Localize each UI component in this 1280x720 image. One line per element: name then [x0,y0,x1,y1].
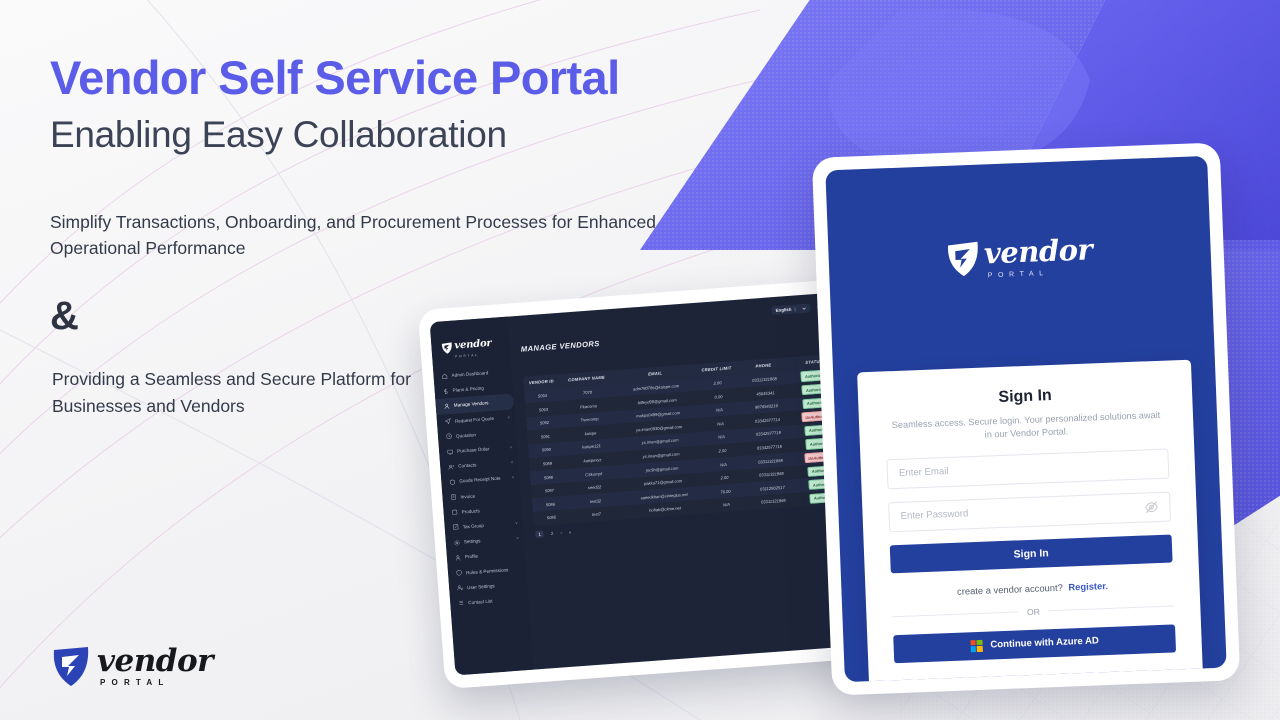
cell-phone: 03342577718 [741,429,796,438]
email-placeholder: Enter Email [899,466,949,479]
cell-credit-limit: 2.00 [697,379,737,387]
shield-logo-icon [52,645,90,687]
brand-wordmark: vendor PORTAL [97,646,213,687]
sidebar-item-label: Admin Dashboard [451,370,488,378]
email-field[interactable]: Enter Email [886,448,1169,489]
language-label: English [775,306,791,312]
cell-vendor-id: 5085 [533,514,569,522]
sidebar-item-label: User Settings [467,583,495,590]
login-mockup: vendor PORTAL Sign In Seamless access. S… [812,142,1240,695]
column-header: VENDOR ID [523,378,559,386]
shield-logo-icon [946,240,980,278]
user-settings-icon [457,585,463,591]
page-title: Vendor Self Service Portal [50,52,750,105]
microsoft-logo-icon [970,640,982,652]
sidebar-item-label: Plans & Pricing [453,386,484,393]
cell-credit-limit: 76.00 [705,487,745,495]
sidebar-item-label: Invoice [460,493,475,499]
cell-credit-limit: N/A [703,460,743,468]
monitor-icon [447,448,453,454]
cell-vendor-id: 5086 [532,500,568,508]
pagination-page[interactable]: 2 [551,530,554,535]
login-logo: vendor PORTAL [828,228,1211,286]
password-field[interactable]: Enter Password [888,491,1171,532]
cell-credit-limit: N/A [706,501,746,509]
cell-vendor-id: 5091 [527,433,563,441]
pagination-page[interactable]: 1 [535,530,544,538]
register-link[interactable]: Register. [1068,580,1108,593]
cell-phone: 03311321868 [743,456,798,465]
cell-credit-limit: 0.00 [698,392,738,400]
column-header: CREDIT LIMIT [696,365,736,373]
sidebar-item-label: Profile [465,554,478,560]
dashboard-logo: vendor PORTAL [430,325,511,370]
chevron-down-icon: ˅ [516,536,519,541]
gear-icon [454,539,460,545]
cell-credit-limit: N/A [699,406,739,414]
cell-vendor-id: 5093 [525,405,561,413]
cell-company-name: 7070 [560,388,615,397]
azure-ad-button[interactable]: Continue with Azure AD [893,624,1176,663]
or-divider: OR [892,601,1174,622]
cell-phone: 03342577714 [740,416,795,425]
cell-phone: 45645341 [738,389,793,398]
profile-icon [455,555,461,561]
cell-credit-limit: 2.00 [702,447,742,455]
cell-phone: 03311321868 [746,497,801,506]
sidebar-item-label: Settings [464,538,481,544]
hero-paragraph-2: Providing a Seamless and Secure Platform… [52,366,482,420]
sidebar-item-label: Quotation [456,432,476,438]
cell-credit-limit: 2.00 [704,474,744,482]
pagination-next-icon[interactable]: › [560,530,562,535]
dashboard-page-title: MANAGE VENDORS [521,339,600,354]
page-subtitle: Enabling Easy Collaboration [50,113,750,157]
brand-logo: vendor PORTAL [52,645,213,687]
sidebar-item-label: Purchase Order [457,446,490,453]
signin-subtitle: Seamless access. Secure login. Your pers… [885,409,1168,446]
tax-icon [453,524,459,530]
signin-card: Sign In Seamless access. Secure login. Y… [857,360,1203,683]
home-icon [441,373,447,379]
hero-paragraph-1: Simplify Transactions, Onboarding, and P… [50,209,740,262]
or-label: OR [1027,606,1040,616]
box-icon [449,479,455,485]
roles-icon [456,570,462,576]
brand-subword: PORTAL [100,679,213,687]
invoice-icon [450,494,456,500]
column-header: PHONE [736,361,791,370]
cell-company-name: seed22 [567,483,622,492]
column-header: COMPANY NAME [559,374,614,383]
divider: | [794,306,796,311]
clock-icon [446,433,452,439]
cell-company-name: test7 [569,510,624,519]
cell-vendor-id: 5088 [530,473,566,481]
user-icon [444,403,450,409]
hero-banner: Vendor Self Service Portal Enabling Easy… [0,0,1280,720]
sidebar-item-label: Roles & Permissions [466,567,509,575]
cell-credit-limit: N/A [701,433,741,441]
cell-credit-limit: N/A [700,420,740,428]
cell-company-name: CSkompf [566,469,621,478]
login-screen: vendor PORTAL Sign In Seamless access. S… [825,156,1226,682]
sidebar-item-label: Request For Quote [455,416,494,424]
sidebar-item-label: Goods Receipt Note [459,476,501,484]
cell-phone: 9876543219 [739,402,794,411]
azure-ad-label: Continue with Azure AD [990,636,1099,651]
cell-company-name: kaispe121 [564,442,619,451]
cell-company-name: Pkacomo [561,402,616,411]
cell-company-name: test32 [568,496,623,505]
cell-vendor-id: 5090 [528,446,564,454]
sidebar-item-label: Tax Group [463,523,485,530]
chevron-down-icon: ˅ [509,445,512,450]
cell-vendor-id: 5087 [531,487,567,495]
dashboard-logo-sub: PORTAL [455,352,492,359]
shield-logo-icon [441,341,453,354]
chevron-down-icon: ˅ [511,460,514,465]
signin-title: Sign In [884,383,1166,412]
cell-vendor-id: 5092 [526,419,562,427]
cell-phone: 03311321868 [744,470,799,479]
cell-company-name: kaispexyz [565,456,620,465]
cell-vendor-id: 5089 [529,460,565,468]
list-icon [458,600,464,606]
sidebar-item-label: Products [461,508,479,514]
cell-vendor-id: 5094 [524,392,560,400]
login-logo-word: vendor [983,232,1093,270]
cell-phone: 03342577718 [742,443,797,452]
eye-off-icon[interactable] [1144,500,1159,515]
language-selector[interactable]: English | moon-icon [771,303,811,315]
sidebar-item-label: Manage Vendors [454,401,489,409]
sidebar-item-label: Contact List [468,598,493,605]
chevron-down-icon: ˅ [515,520,518,525]
signin-button-label: Sign In [1013,547,1048,560]
cell-phone: 03112802517 [745,483,800,492]
products-icon [451,509,457,515]
login-logo-sub: PORTAL [988,268,1093,279]
cell-phone: 03311321868 [737,375,792,384]
pagination-last-icon[interactable]: » [569,529,572,534]
signin-button[interactable]: Sign In [890,534,1173,573]
register-text: create a vendor account? [957,581,1063,596]
chevron-down-icon: ˅ [507,414,510,419]
dashboard-logo-word: vendor [454,338,492,352]
password-placeholder: Enter Password [900,508,968,522]
cell-company-name: Truecomp [562,415,617,424]
dollar-icon [443,388,449,394]
sidebar-item-label: Contacts [458,463,476,469]
chevron-down-icon[interactable] [801,305,806,310]
chevron-down-icon: ˅ [512,475,515,480]
register-line: create a vendor account? Register. [891,577,1173,599]
send-icon [445,418,451,424]
brand-word: vendor [97,646,213,677]
cell-company-name: kaispe [563,429,618,438]
contacts-icon [448,464,454,470]
